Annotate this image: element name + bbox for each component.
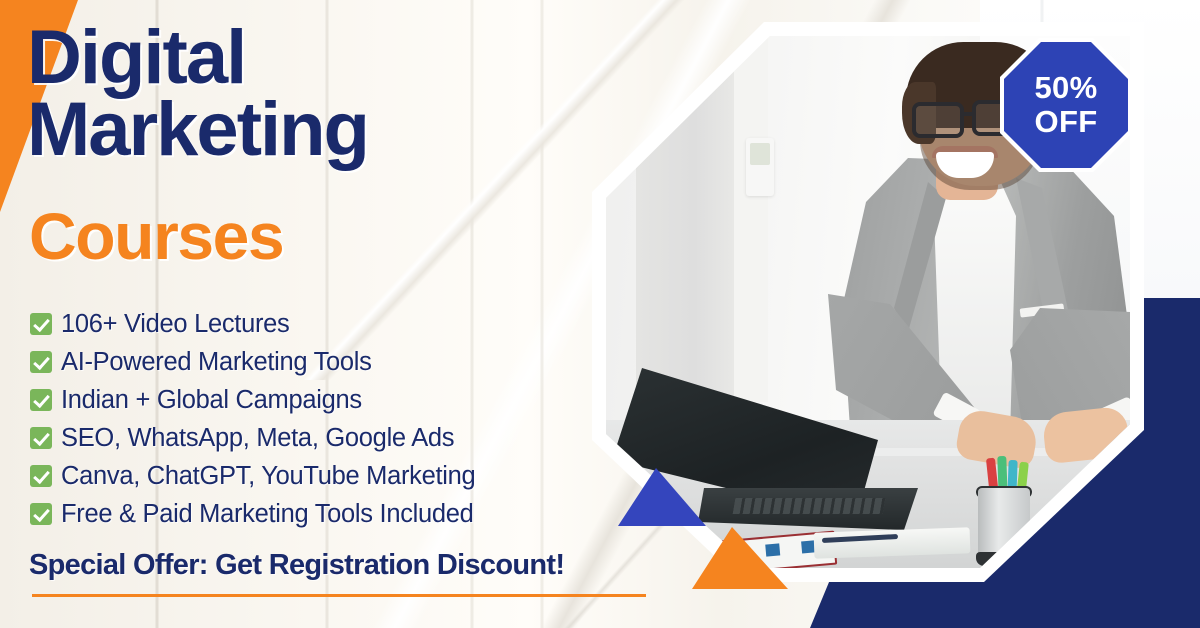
- feature-item: AI-Powered Marketing Tools: [30, 343, 600, 381]
- feature-item: SEO, WhatsApp, Meta, Google Ads: [30, 419, 600, 457]
- offer-underline: [32, 594, 646, 597]
- photo-person-glasses-left: [912, 102, 964, 138]
- feature-item: Indian + Global Campaigns: [30, 381, 600, 419]
- discount-badge[interactable]: 50% OFF: [1004, 42, 1128, 168]
- photo-notebook: [814, 527, 971, 558]
- photo-thermostat: [746, 138, 774, 196]
- feature-label: SEO, WhatsApp, Meta, Google Ads: [61, 424, 454, 453]
- discount-label: OFF: [1035, 106, 1098, 138]
- feature-label: Free & Paid Marketing Tools Included: [61, 500, 474, 529]
- photo-pillar-2: [734, 36, 768, 402]
- check-icon: [30, 427, 52, 449]
- page-subtitle: Courses: [29, 203, 283, 269]
- feature-list: 106+ Video LecturesAI-Powered Marketing …: [30, 305, 600, 533]
- photo-laptop-keyboard: [733, 498, 886, 514]
- check-icon: [30, 503, 52, 525]
- feature-item: 106+ Video Lectures: [30, 305, 600, 343]
- feature-label: Indian + Global Campaigns: [61, 386, 362, 415]
- check-icon: [30, 465, 52, 487]
- page-title: Digital Marketing: [27, 22, 368, 166]
- feature-label: 106+ Video Lectures: [61, 310, 289, 339]
- content-column: Digital Marketing Courses 106+ Video Lec…: [0, 0, 600, 628]
- discount-percent: 50%: [1035, 72, 1098, 104]
- feature-item: Canva, ChatGPT, YouTube Marketing: [30, 457, 600, 495]
- check-icon: [30, 313, 52, 335]
- check-icon: [30, 351, 52, 373]
- feature-item: Free & Paid Marketing Tools Included: [30, 495, 600, 533]
- special-offer-text: Special Offer: Get Registration Discount…: [29, 549, 564, 582]
- check-icon: [30, 389, 52, 411]
- title-line-2: Marketing: [27, 94, 368, 166]
- feature-label: AI-Powered Marketing Tools: [61, 348, 372, 377]
- photo-person-glasses-bridge: [962, 112, 976, 116]
- feature-label: Canva, ChatGPT, YouTube Marketing: [61, 462, 475, 491]
- marketing-banner: 50% OFF Digital Marketing Courses 106+ V…: [0, 0, 1200, 628]
